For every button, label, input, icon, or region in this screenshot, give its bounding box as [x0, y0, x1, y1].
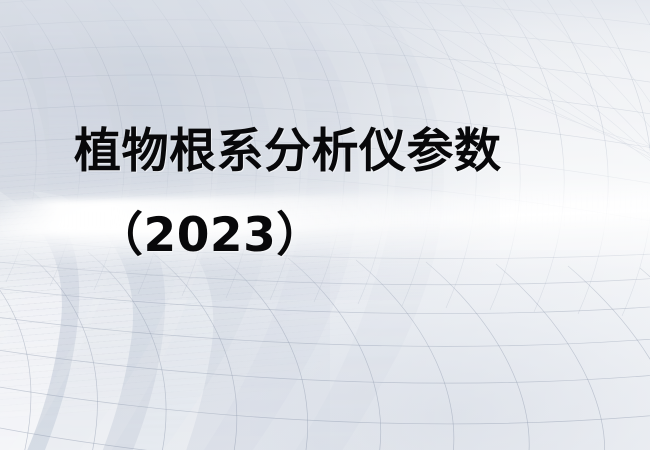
page-title: 植物根系分析仪参数: [74, 124, 502, 180]
title-slide: 植物根系分析仪参数 （2023）: [0, 0, 650, 450]
title-block: 植物根系分析仪参数 （2023）: [0, 0, 650, 450]
page-title-year: （2023）: [96, 208, 324, 264]
